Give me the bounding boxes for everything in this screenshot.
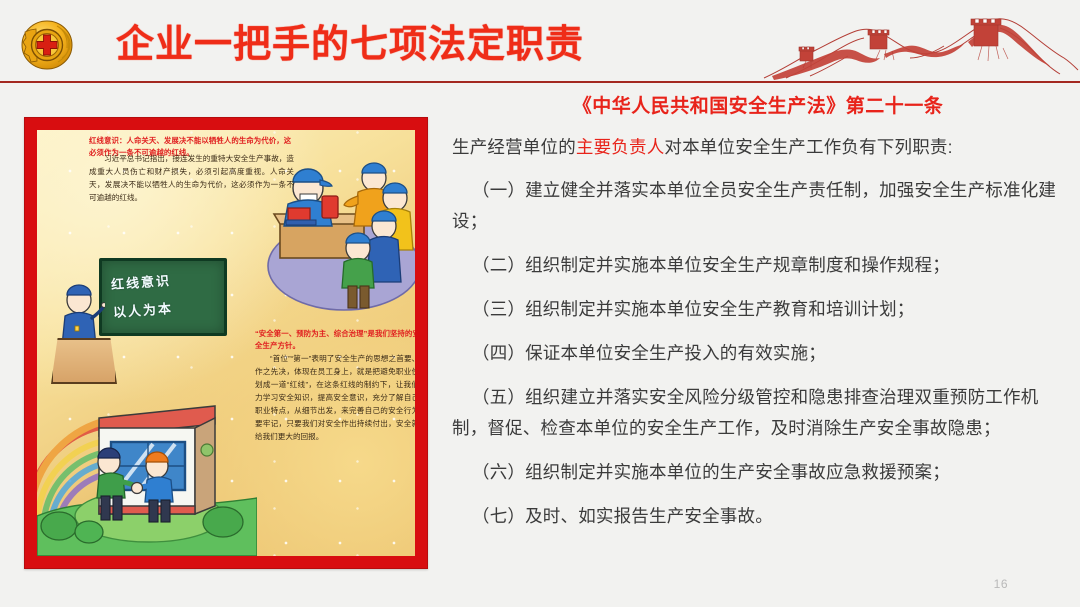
lead-prefix: 生产经营单位的	[452, 137, 576, 157]
lead-paragraph: 生产经营单位的主要负责人对本单位安全生产工作负有下列职责:	[452, 132, 1064, 162]
clause-item: （六）组织制定并实施本单位的生产安全事故应急救援预案；	[452, 457, 1064, 488]
page-number: 16	[994, 577, 1008, 591]
blackboard-line-2: 以人为本	[112, 295, 174, 327]
blackboard: 红线意识 以人为本	[99, 258, 227, 336]
header-divider	[0, 81, 1080, 83]
safety-production-emblem-icon	[16, 18, 78, 72]
blackboard-text: 红线意识 以人为本	[110, 267, 174, 327]
clause-item: （七）及时、如实报告生产安全事故。	[452, 501, 1064, 532]
clause-item: （四）保证本单位安全生产投入的有效实施；	[452, 338, 1064, 369]
lead-highlight: 主要负责人	[576, 137, 665, 157]
clause-item: （一）建立健全并落实本单位全员安全生产责任制，加强安全生产标准化建设；	[452, 175, 1064, 237]
law-article-title: 《中华人民共和国安全生产法》第二十一条	[452, 94, 1064, 120]
slide-root: 企业一把手的七项法定职责	[0, 0, 1080, 607]
safety-poster-image: 红线意识：人命关天、发展决不能以牺牲人的生命为代价，这必须作为一条不可逾越的红线…	[24, 117, 428, 569]
lead-suffix: 对本单位安全生产工作负有下列职责:	[664, 137, 952, 157]
great-wall-illustration-icon	[660, 6, 1080, 82]
clause-item: （五）组织建立并落实安全风险分级管控和隐患排查治理双重预防工作机制，督促、检查本…	[452, 382, 1064, 444]
page-title: 企业一把手的七项法定职责	[116, 20, 584, 70]
rainbow-house-handshake-icon	[37, 366, 257, 556]
blackboard-line-1: 红线意识	[110, 267, 172, 299]
clause-item: （三）组织制定并实施本单位安全生产教育和培训计划；	[452, 294, 1064, 325]
poster-body-mid: “首位”“第一”表明了安全生产的思想之首要、工作之先决，体现在员工身上，就是把避…	[255, 352, 415, 443]
slide-header: 企业一把手的七项法定职责	[0, 0, 1080, 84]
clause-item: （二）组织制定并实施本单位安全生产规章制度和操作规程；	[452, 250, 1064, 281]
law-content-panel: 《中华人民共和国安全生产法》第二十一条 生产经营单位的主要负责人对本单位安全生产…	[452, 94, 1064, 545]
poster-headline-mid: “安全第一、预防为主、综合治理”是我们坚持的安全生产方针。	[255, 328, 415, 351]
poster-body-top: 习近平总书记指出，接连发生的重特大安全生产事故，造成重大人员伤亡和财产损失，必须…	[89, 152, 294, 204]
